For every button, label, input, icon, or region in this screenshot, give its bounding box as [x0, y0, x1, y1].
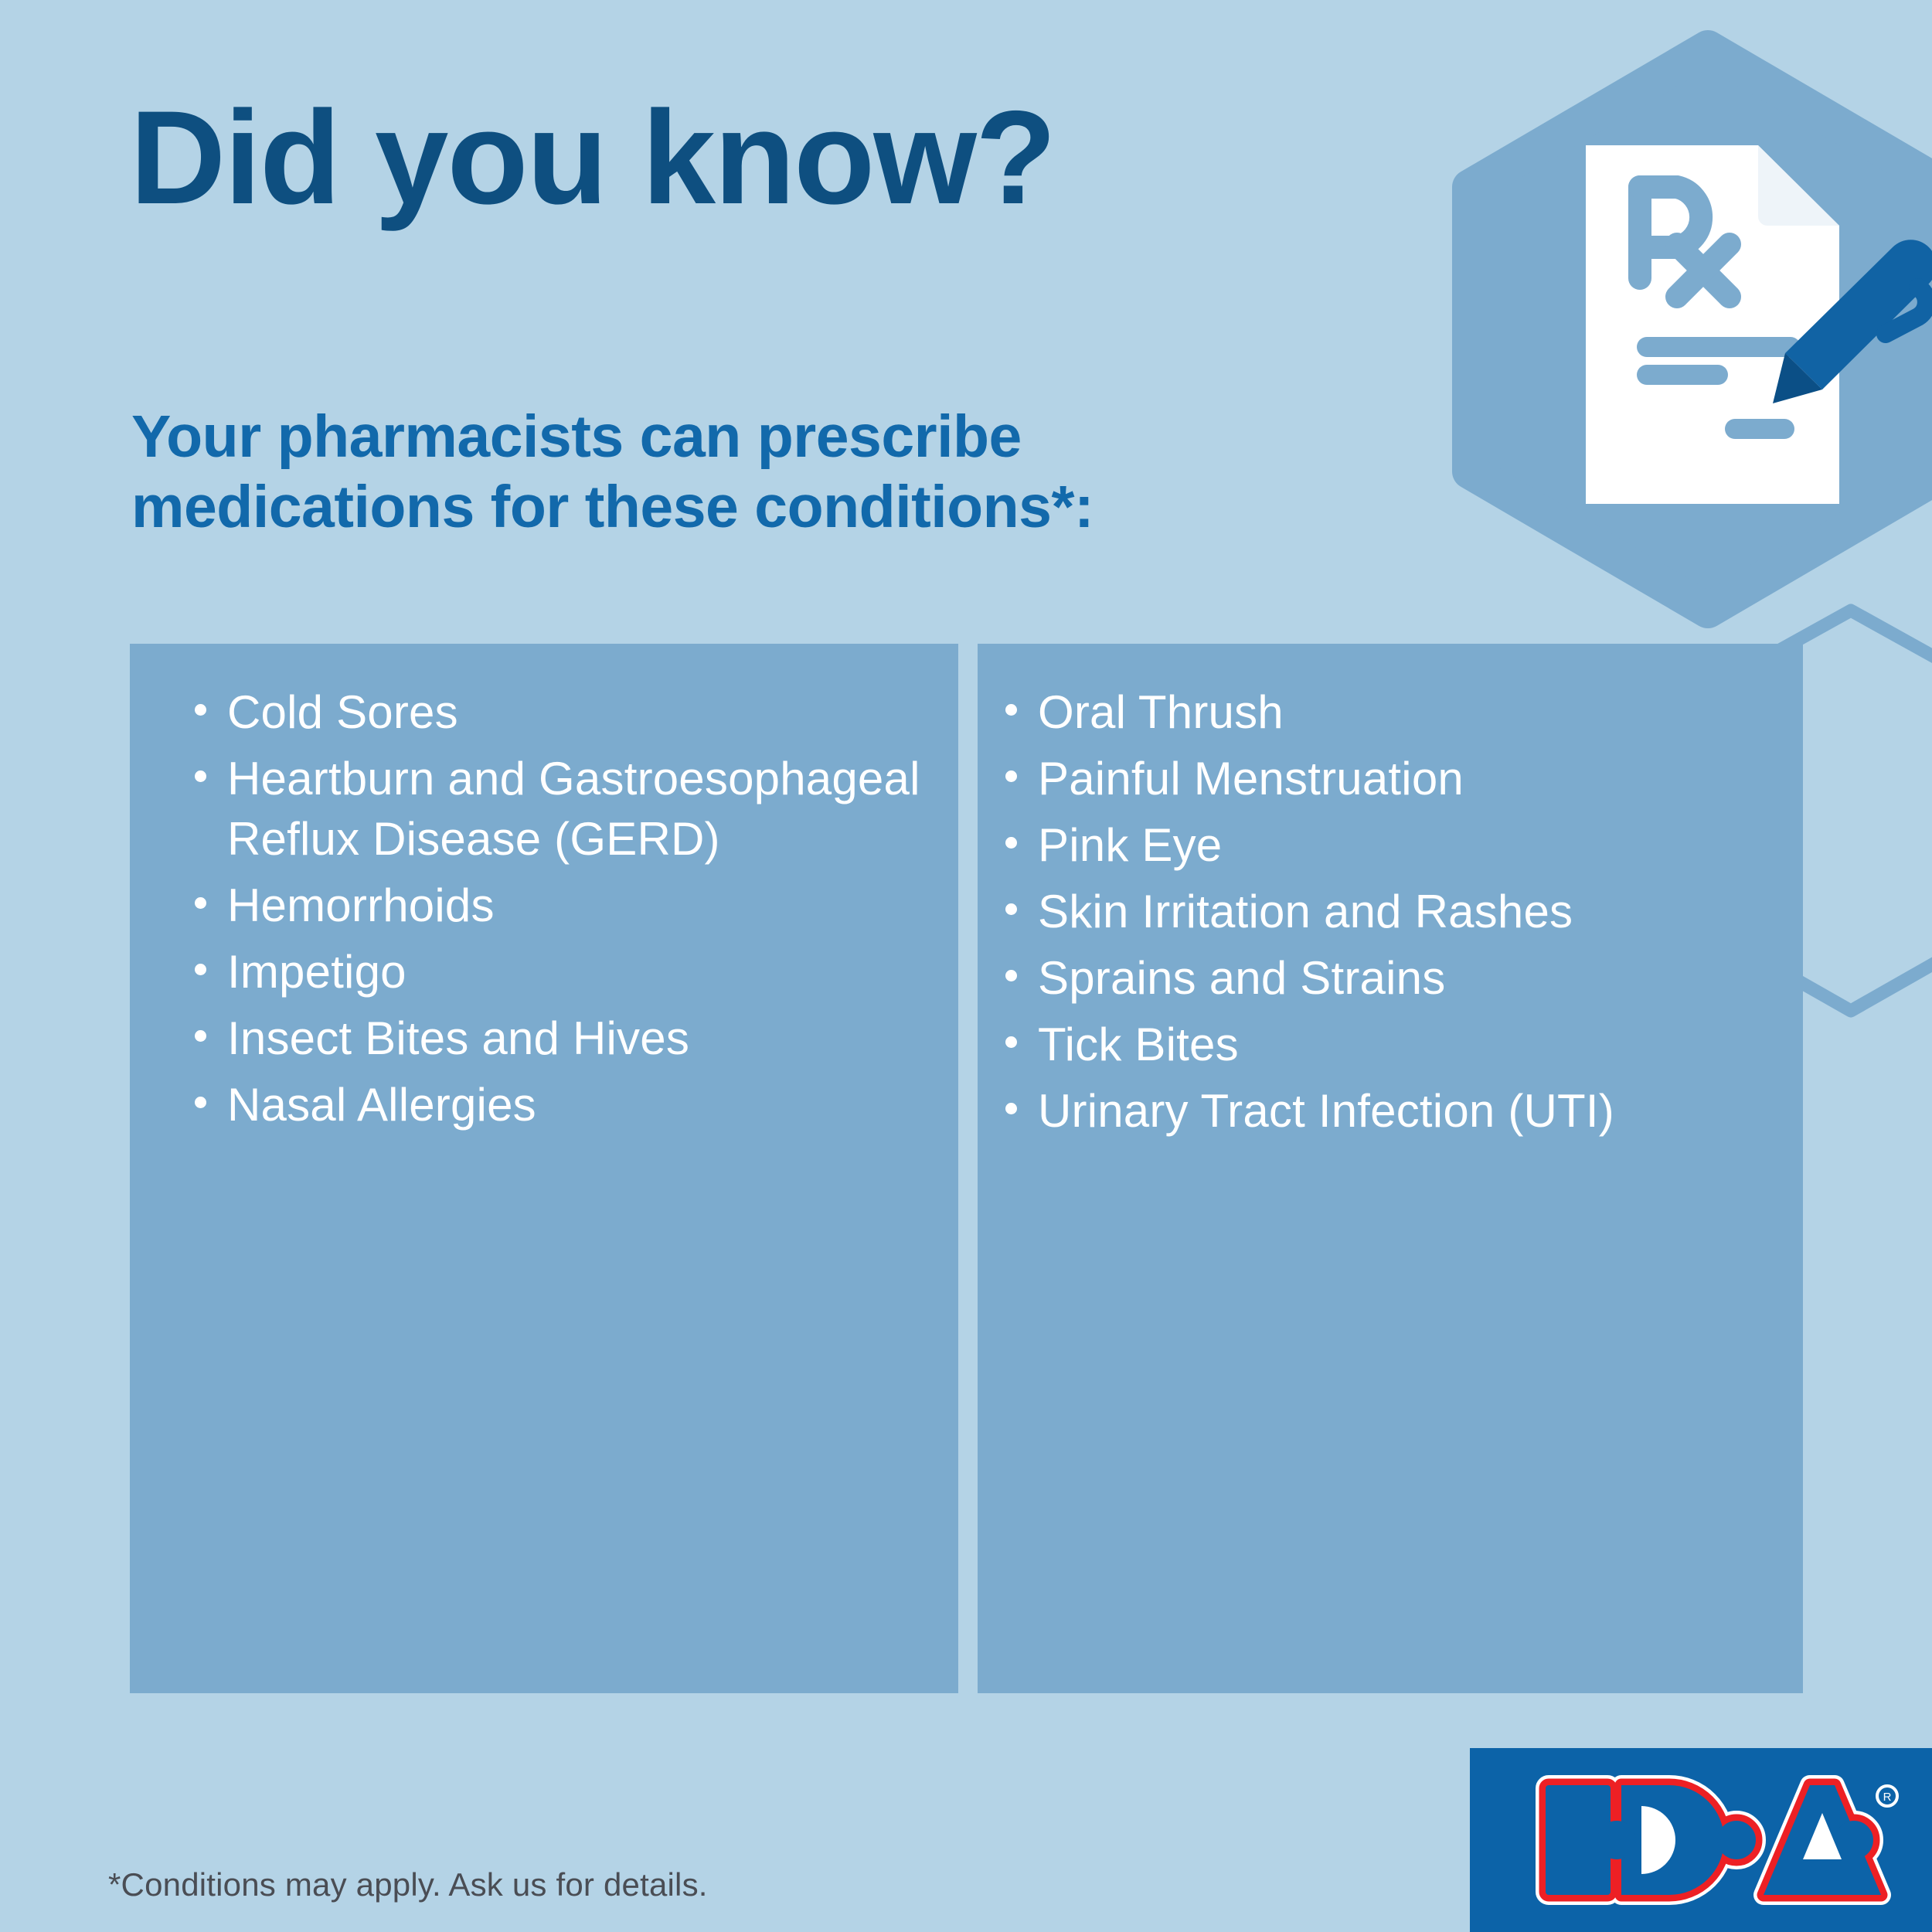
subtitle-line-2: medications for these conditions*:: [131, 472, 1094, 543]
condition-item: Cold Sores: [190, 682, 927, 743]
ida-logo-plate: R: [1470, 1748, 1932, 1932]
prescription-badge: [1445, 15, 1932, 634]
conditions-list-left: Cold SoresHeartburn and Gastroesophageal…: [190, 682, 927, 1141]
condition-item: Painful Menstruation: [1001, 749, 1787, 809]
rx-document-icon: [1586, 145, 1839, 504]
page-title: Did you know?: [130, 91, 1055, 224]
condition-item: Insect Bites and Hives: [190, 1009, 927, 1069]
ida-logo-icon: R: [1470, 1748, 1932, 1932]
bullet-icon: [195, 770, 206, 782]
condition-label: Hemorrhoids: [227, 879, 495, 931]
subtitle-line-1: Your pharmacists can prescribe: [131, 402, 1094, 472]
condition-label: Nasal Allergies: [227, 1079, 536, 1131]
bullet-icon: [1005, 970, 1017, 981]
bullet-icon: [1005, 903, 1017, 915]
doc-line-2: [1637, 365, 1728, 385]
condition-item: Pink Eye: [1001, 815, 1787, 876]
bullet-icon: [1005, 1036, 1017, 1048]
condition-item: Heartburn and Gastroesophageal Reflux Di…: [190, 749, 927, 869]
condition-label: Painful Menstruation: [1038, 753, 1464, 804]
condition-item: Sprains and Strains: [1001, 948, 1787, 1009]
svg-text:R: R: [1883, 1791, 1892, 1804]
condition-label: Sprains and Strains: [1038, 952, 1445, 1004]
condition-label: Oral Thrush: [1038, 686, 1284, 738]
page-subtitle: Your pharmacists can prescribe medicatio…: [131, 402, 1094, 543]
bullet-icon: [1005, 770, 1017, 782]
conditions-panel-right: Oral ThrushPainful MenstruationPink EyeS…: [978, 644, 1803, 1693]
condition-label: Heartburn and Gastroesophageal Reflux Di…: [227, 753, 920, 865]
condition-item: Nasal Allergies: [190, 1075, 927, 1135]
bullet-icon: [195, 1030, 206, 1042]
condition-label: Pink Eye: [1038, 819, 1222, 871]
registered-mark-icon: R: [1877, 1786, 1897, 1806]
condition-item: Tick Bites: [1001, 1015, 1787, 1075]
bullet-icon: [195, 964, 206, 975]
condition-label: Skin Irritation and Rashes: [1038, 886, 1573, 937]
conditions-list-right: Oral ThrushPainful MenstruationPink EyeS…: [1001, 682, 1787, 1148]
doc-line-1: [1637, 337, 1801, 357]
condition-label: Insect Bites and Hives: [227, 1012, 689, 1064]
condition-label: Urinary Tract Infection (UTI): [1038, 1085, 1614, 1137]
bullet-icon: [195, 897, 206, 909]
bullet-icon: [1005, 704, 1017, 716]
bullet-icon: [195, 704, 206, 716]
condition-item: Hemorrhoids: [190, 876, 927, 936]
infographic-canvas: Did you know? Your pharmacists can presc…: [0, 0, 1932, 1932]
condition-label: Cold Sores: [227, 686, 458, 738]
condition-item: Skin Irritation and Rashes: [1001, 882, 1787, 942]
condition-item: Oral Thrush: [1001, 682, 1787, 743]
bullet-icon: [1005, 837, 1017, 849]
condition-item: Impetigo: [190, 942, 927, 1002]
conditions-panel-left: Cold SoresHeartburn and Gastroesophageal…: [130, 644, 958, 1693]
signature-line: [1725, 419, 1794, 439]
condition-label: Tick Bites: [1038, 1019, 1239, 1070]
footnote-disclaimer: *Conditions may apply. Ask us for detail…: [108, 1866, 708, 1903]
bullet-icon: [195, 1097, 206, 1108]
condition-item: Urinary Tract Infection (UTI): [1001, 1081, 1787, 1141]
condition-label: Impetigo: [227, 946, 406, 998]
bullet-icon: [1005, 1103, 1017, 1114]
